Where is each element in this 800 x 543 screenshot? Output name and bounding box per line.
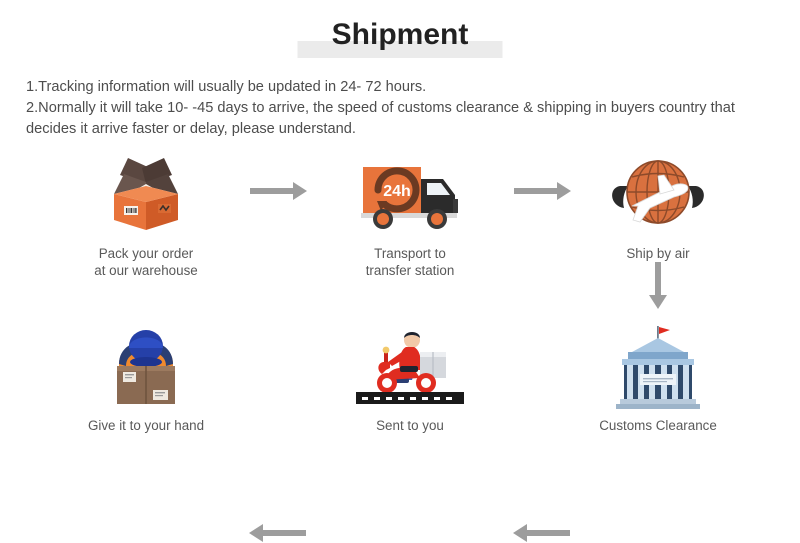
scooter-courier-icon — [310, 320, 510, 412]
arrow-air-to-customs — [648, 262, 668, 310]
flow-step-label-line2: at our warehouse — [46, 263, 246, 280]
flow-step-pack-order: Pack your order at our warehouse — [46, 148, 246, 288]
intro-line-2: 2.Normally it will take 10- -45 days to … — [26, 98, 778, 140]
flow-step-label-line2: transfer station — [310, 263, 510, 280]
intro-line-1: 1.Tracking information will usually be u… — [26, 77, 778, 98]
flow-step-label: Customs Clearance — [558, 418, 758, 435]
flow-step-label-line1: Sent to you — [310, 418, 510, 435]
courier-handing-box-icon — [46, 320, 246, 412]
flow-step-label-line1: Customs Clearance — [558, 418, 758, 435]
arrow-customs-to-scooter — [514, 523, 570, 543]
flow-step-customs-clearance: Customs Clearance — [558, 320, 758, 460]
flow-step-label: Give it to your hand — [46, 418, 246, 435]
flow-step-sent-to-you: Sent to you — [310, 320, 510, 460]
open-box-icon — [46, 148, 246, 240]
shipment-flow: Pack your order at our warehouse — [0, 148, 800, 463]
customs-building-icon — [558, 320, 758, 412]
arrow-scooter-to-hand — [250, 523, 306, 543]
arrow-transport-to-air — [514, 181, 570, 201]
page-title: Shipment — [0, 18, 800, 52]
flow-step-label-line1: Transport to — [310, 246, 510, 263]
flow-step-transport: 24h Transport to transfer station — [310, 148, 510, 288]
flow-step-label: Pack your order at our warehouse — [46, 246, 246, 279]
flow-step-label-line1: Give it to your hand — [46, 418, 246, 435]
globe-airplane-icon — [558, 148, 758, 240]
intro-paragraph: 1.Tracking information will usually be u… — [26, 77, 778, 140]
flow-row-top: Pack your order at our warehouse — [0, 148, 800, 288]
flow-step-label-line1: Pack your order — [46, 246, 246, 263]
flow-row-bottom: Give it to your hand — [0, 320, 800, 460]
delivery-truck-icon: 24h — [310, 148, 510, 240]
flow-step-label: Transport to transfer station — [310, 246, 510, 279]
arrow-pack-to-transport — [250, 181, 306, 201]
flow-step-label: Sent to you — [310, 418, 510, 435]
header: Shipment — [0, 0, 800, 70]
flow-step-label-line1: Ship by air — [558, 246, 758, 263]
flow-step-give-to-hand: Give it to your hand — [46, 320, 246, 460]
shipment-infographic: { "header": { "title": "Shipment" }, "in… — [0, 0, 800, 463]
truck-badge-text: 24h — [383, 183, 411, 200]
flow-step-label: Ship by air — [558, 246, 758, 263]
